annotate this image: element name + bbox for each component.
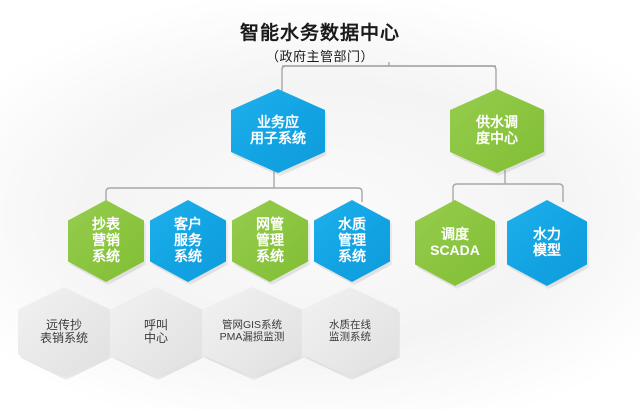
node-label-line: 业务应 <box>257 115 299 131</box>
node-water-quality-management-system[interactable]: 水质 管理 系统 <box>314 200 390 282</box>
node-label-line: 系统 <box>338 249 366 265</box>
node-label-line: PMA漏损监测 <box>220 332 285 344</box>
node-label-line: 远传抄 <box>46 319 82 332</box>
node-pipe-gis-pma-leak-monitoring[interactable]: 管网GIS系统 PMA漏损监测 <box>202 287 302 377</box>
node-label-line: 供水调 <box>476 115 518 131</box>
page-subtitle: （政府主管部门） <box>0 46 640 65</box>
node-label-line: 管理 <box>256 233 284 249</box>
node-label-line: 服务 <box>174 233 202 249</box>
node-remote-meter-reading-sales-system[interactable]: 远传抄 表销系统 <box>18 287 110 377</box>
node-label-line: 营销 <box>92 233 120 249</box>
node-label-line: SCADA <box>430 243 480 259</box>
node-customer-service-system[interactable]: 客户 服务 系统 <box>150 200 226 282</box>
connector-title-to-level1 <box>278 62 500 98</box>
org-chart-diagram: 智能水务数据中心 （政府主管部门） 业务应 用子系统 供水调 度中心 抄表 营 <box>0 0 640 409</box>
node-label-line: 中心 <box>144 332 168 345</box>
node-label-line: 模型 <box>533 243 561 259</box>
node-label-line: 系统 <box>174 249 202 265</box>
node-business-application-subsystem[interactable]: 业务应 用子系统 <box>231 89 325 173</box>
node-label-line: 调度 <box>441 227 469 243</box>
node-label-line: 抄表 <box>92 217 120 233</box>
node-label-line: 管理 <box>338 233 366 249</box>
node-meter-reading-marketing-system[interactable]: 抄表 营销 系统 <box>68 200 144 282</box>
node-dispatch-scada[interactable]: 调度 SCADA <box>415 200 495 286</box>
node-hydraulic-model[interactable]: 水力 模型 <box>507 200 587 286</box>
node-label-line: 监测系统 <box>329 332 371 344</box>
node-label-line: 网管 <box>256 217 284 233</box>
node-call-center[interactable]: 呼叫 中心 <box>110 287 202 377</box>
node-label-line: 客户 <box>174 217 202 233</box>
node-label-line: 水质 <box>338 217 366 233</box>
connector-dispatch-to-level2 <box>448 170 568 204</box>
node-label-line: 表销系统 <box>40 332 88 345</box>
node-water-quality-online-monitoring[interactable]: 水质在线 监测系统 <box>302 287 398 377</box>
node-label-line: 用子系统 <box>250 131 306 147</box>
page-title: 智能水务数据中心 <box>0 18 640 45</box>
node-label-line: 水力 <box>533 227 561 243</box>
node-label-line: 系统 <box>256 249 284 265</box>
connector-business-to-level2 <box>100 170 368 204</box>
node-water-supply-dispatch-center[interactable]: 供水调 度中心 <box>450 89 544 173</box>
node-label-line: 呼叫 <box>144 319 168 332</box>
node-pipe-network-management-system[interactable]: 网管 管理 系统 <box>232 200 308 282</box>
node-label-line: 度中心 <box>476 131 518 147</box>
node-label-line: 系统 <box>92 249 120 265</box>
